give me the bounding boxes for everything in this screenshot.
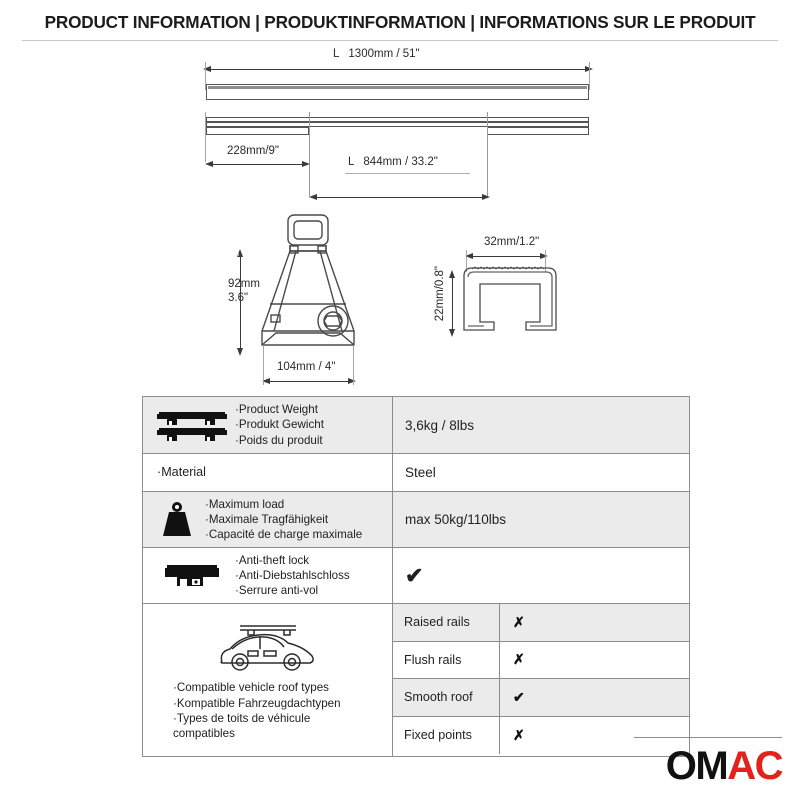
dimension-foot-height: 92mm 3.6"	[228, 277, 260, 306]
label-text-maximum-load: ·Maximum load ·Maximale Tragfähigkeit ·C…	[205, 497, 362, 543]
profile-cross-section-drawing	[460, 262, 560, 342]
logo-divider	[634, 737, 782, 738]
ref-line-foot-left	[309, 112, 310, 197]
ext-line-foot-width-left	[263, 345, 264, 385]
span-underline	[345, 173, 470, 174]
dimension-foot-width: 104mm / 4"	[277, 361, 335, 373]
arrow-down-foot-height	[237, 348, 243, 356]
crossbars-icon	[149, 408, 235, 442]
page-title: PRODUCT INFORMATION | PRODUKTINFORMATION…	[0, 12, 800, 33]
arrow-right-offset	[302, 161, 310, 167]
row-value-product-weight: 3,6kg / 8lbs	[393, 397, 689, 453]
ext-line-offset-left	[205, 112, 206, 162]
ext-line-total-right	[589, 62, 590, 90]
ext-line-foot-width-right	[353, 345, 354, 385]
compat-mark-smooth-roof: ✔	[500, 679, 689, 716]
dimension-line-profile-width	[468, 256, 543, 257]
arrow-down-profile-height	[449, 329, 455, 337]
dimension-line-foot-width	[265, 381, 351, 382]
table-row-roof-compatibility: ·Compatible vehicle roof types ·Kompatib…	[143, 604, 689, 756]
foot-height-in: 3.6"	[228, 291, 260, 305]
arrow-right-foot-width	[348, 378, 356, 384]
foot-right-block	[487, 127, 589, 135]
label-line-en: ·Anti-theft lock	[235, 553, 350, 568]
label-text-material: ·Material	[149, 464, 206, 481]
dimension-line-foot-height	[240, 255, 241, 350]
weight-icon	[149, 501, 205, 539]
arrow-right-profile-width	[540, 253, 548, 259]
label-line-de: ·Produkt Gewicht	[235, 417, 324, 432]
label-line-de: ·Anti-Diebstahlschloss	[235, 568, 350, 583]
row-label-anti-theft-lock: ·Anti-theft lock ·Anti-Diebstahlschloss …	[143, 548, 393, 603]
car-with-rack-icon	[208, 618, 328, 674]
table-row-product-weight: ·Product Weight ·Produkt Gewicht ·Poids …	[143, 397, 689, 454]
header-divider	[22, 40, 778, 41]
table-row-maximum-load: ·Maximum load ·Maximale Tragfähigkeit ·C…	[143, 492, 689, 548]
compat-name-raised-rails: Raised rails	[393, 604, 500, 641]
dimension-line-offset	[208, 164, 305, 165]
compat-item-raised-rails: Raised rails ✗	[393, 604, 689, 642]
row-value-anti-theft-lock: ✔	[393, 548, 689, 603]
logo-text-ac: AC	[727, 744, 782, 788]
label-text-roof-compatibility: ·Compatible vehicle roof types ·Kompatib…	[151, 680, 341, 741]
label-text-anti-theft-lock: ·Anti-theft lock ·Anti-Diebstahlschloss …	[235, 553, 350, 599]
compat-item-flush-rails: Flush rails ✗	[393, 642, 689, 680]
compat-name-smooth-roof: Smooth roof	[393, 679, 500, 716]
compat-mark-flush-rails: ✗	[500, 642, 689, 679]
dimension-foot-offset: 228mm/9"	[227, 145, 279, 157]
arrow-left-offset	[205, 161, 213, 167]
label-line-de: ·Kompatible Fahrzeugdachtypen	[173, 696, 341, 711]
roof-compatibility-list: Raised rails ✗ Flush rails ✗ Smooth roof…	[393, 604, 689, 756]
specification-table: ·Product Weight ·Produkt Gewicht ·Poids …	[142, 396, 690, 757]
span-value: 844mm / 33.2"	[363, 156, 437, 168]
row-value-maximum-load: max 50kg/110lbs	[393, 492, 689, 547]
ref-line-foot-right	[487, 112, 488, 197]
arrow-up-profile-height	[449, 270, 455, 278]
row-label-product-weight: ·Product Weight ·Produkt Gewicht ·Poids …	[143, 397, 393, 453]
compat-item-fixed-points: Fixed points ✗	[393, 717, 689, 755]
compat-name-fixed-points: Fixed points	[393, 717, 500, 755]
label-line-en: ·Compatible vehicle roof types	[173, 680, 341, 695]
dimension-profile-height: 22mm/0.8"	[434, 266, 446, 321]
ext-line-foot-top	[238, 252, 239, 256]
table-row-material: ·Material Steel	[143, 454, 689, 492]
row-value-material: Steel	[393, 454, 689, 491]
length-symbol: L	[333, 48, 339, 60]
label-line-fr: ·Capacité de charge maximale	[205, 527, 362, 542]
label-line-fr: ·Serrure anti-vol	[235, 583, 350, 598]
foot-height-mm: 92mm	[228, 277, 260, 291]
dimension-profile-width: 32mm/1.2"	[484, 236, 539, 248]
dimension-line-span	[312, 197, 485, 198]
table-row-anti-theft-lock: ·Anti-theft lock ·Anti-Diebstahlschloss …	[143, 548, 689, 604]
roof-compatibility-label-cell: ·Compatible vehicle roof types ·Kompatib…	[143, 604, 393, 756]
arrow-left-span	[309, 194, 317, 200]
length-value: 1300mm / 51"	[348, 48, 419, 60]
row-label-material: ·Material	[143, 454, 393, 491]
dimension-line-total	[206, 69, 588, 70]
label-line-de: ·Maximale Tragfähigkeit	[205, 512, 362, 527]
dimension-bar-length: L1300mm / 51"	[333, 48, 420, 60]
compat-item-smooth-roof: Smooth roof ✔	[393, 679, 689, 717]
compat-mark-raised-rails: ✗	[500, 604, 689, 641]
foot-front-view-drawing	[240, 205, 380, 370]
foot-left-block	[206, 127, 309, 135]
arrow-right-span	[482, 194, 490, 200]
label-line-en: ·Product Weight	[235, 402, 324, 417]
omac-logo: OMAC	[666, 746, 782, 786]
compat-name-flush-rails: Flush rails	[393, 642, 500, 679]
span-symbol: L	[348, 156, 354, 168]
label-line-en: ·Maximum load	[205, 497, 362, 512]
dimension-line-profile-height	[452, 276, 453, 331]
label-line-fr-cont: compatibles	[173, 726, 341, 741]
lock-bar-icon	[149, 561, 235, 591]
logo-text-om: OM	[666, 744, 727, 788]
crossbar-top-shading	[208, 86, 587, 89]
compat-mark-fixed-points: ✗	[500, 717, 689, 755]
label-line-material: ·Material	[157, 464, 206, 481]
product-information-sheet: PRODUCT INFORMATION | PRODUKTINFORMATION…	[0, 0, 800, 800]
row-label-maximum-load: ·Maximum load ·Maximale Tragfähigkeit ·C…	[143, 492, 393, 547]
label-text-product-weight: ·Product Weight ·Produkt Gewicht ·Poids …	[235, 402, 324, 448]
label-line-fr: ·Poids du produit	[235, 433, 324, 448]
label-line-fr: ·Types de toits de véhicule	[173, 711, 341, 726]
dimension-span: L844mm / 33.2"	[348, 156, 438, 168]
